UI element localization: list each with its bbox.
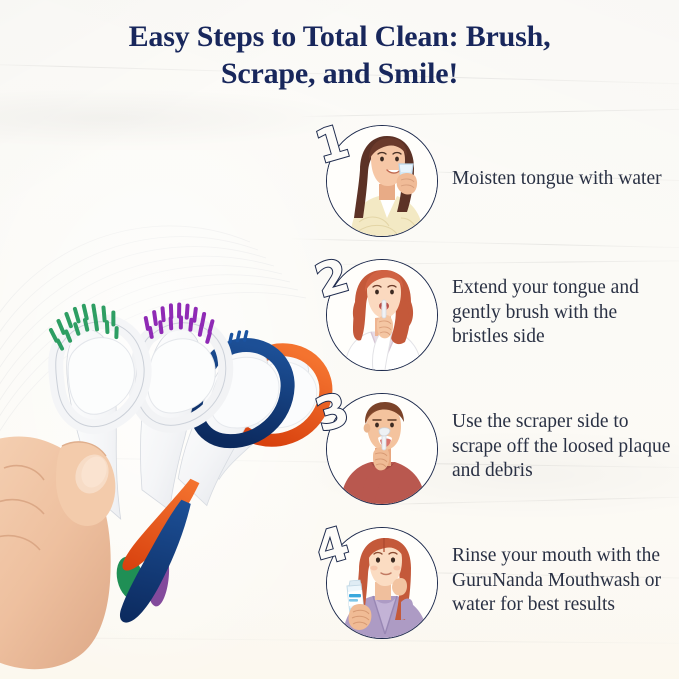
tongue-scraper-fan-photo xyxy=(0,150,340,679)
step-item-1: 1 Moisten tongue with water xyxy=(318,112,679,246)
step-item-3: 3 Use the scraper side to scrape off the… xyxy=(318,380,679,514)
step-item-4: 4 Rinse your mouth with the GuruNanda Mo… xyxy=(318,514,679,648)
step-text-3: Use the scraper side to scrape off the l… xyxy=(452,410,677,485)
step-item-2: 2 Extend your tongue and gently brush wi… xyxy=(318,246,679,380)
steps-list: 1 Moisten tongue with water xyxy=(318,112,679,648)
step-text-1: Moisten tongue with water xyxy=(452,167,662,192)
paper-shadow xyxy=(0,88,360,148)
step-badge-2: 2 xyxy=(318,253,438,373)
step-badge-4: 4 xyxy=(318,521,438,641)
step-text-2: Extend your tongue and gently brush with… xyxy=(452,276,677,351)
step-text-4: Rinse your mouth with the GuruNanda Mout… xyxy=(452,544,677,619)
step-badge-1: 1 xyxy=(318,119,438,239)
infographic-page: Easy Steps to Total Clean: Brush, Scrape… xyxy=(0,0,679,679)
step-badge-3: 3 xyxy=(318,387,438,507)
page-title-line-2: Scrape, and Smile! xyxy=(0,55,679,92)
product-illustration xyxy=(0,150,340,679)
page-title: Easy Steps to Total Clean: Brush, Scrape… xyxy=(0,18,679,92)
page-title-line-1: Easy Steps to Total Clean: Brush, xyxy=(129,20,551,53)
